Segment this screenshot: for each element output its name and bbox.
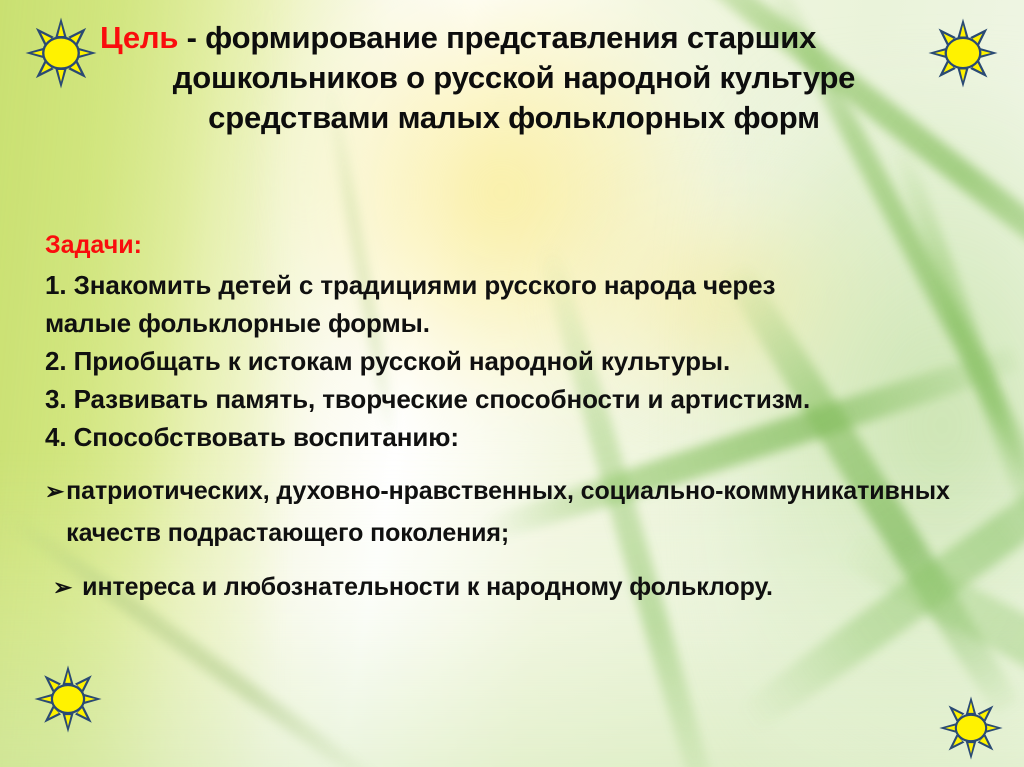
title-line-1-rest: - формирование представления старших [178, 20, 816, 55]
slide-canvas: Цель - формирование представления старши… [0, 0, 1024, 767]
sun-icon [33, 664, 103, 734]
task-line: 1. Знакомить детей с традициями русского… [45, 266, 985, 304]
bullet-list: ➢ патриотических, духовно-нравственных, … [45, 470, 985, 608]
sun-icon [938, 695, 1004, 761]
title-line-2: дошкольников о русской народной культуре [60, 58, 968, 98]
title-line-3: средствами малых фольклорных форм [60, 98, 968, 138]
task-line: 2. Приобщать к истокам русской народной … [45, 342, 985, 380]
task-line: 3. Развивать память, творческие способно… [45, 380, 985, 418]
tasks-heading: Задачи: [45, 228, 985, 262]
task-line: малые фольклорные формы. [45, 304, 985, 342]
task-line: 4. Способствовать воспитанию: [45, 418, 985, 456]
arrow-bullet-icon: ➢ [45, 470, 64, 512]
slide-title: Цель - формирование представления старши… [60, 18, 968, 138]
list-item-label: патриотических, духовно-нравственных, со… [66, 470, 985, 554]
list-item: ➢ патриотических, духовно-нравственных, … [45, 470, 985, 554]
arrow-bullet-icon: ➢ [53, 566, 72, 608]
list-item-label: интереса и любознательности к народному … [82, 566, 985, 608]
slide-body: Задачи: 1. Знакомить детей с традициями … [45, 228, 985, 608]
title-accent-word: Цель [100, 20, 178, 55]
list-item: ➢ интереса и любознательности к народном… [45, 566, 985, 608]
title-line-1: Цель - формирование представления старши… [60, 18, 968, 58]
